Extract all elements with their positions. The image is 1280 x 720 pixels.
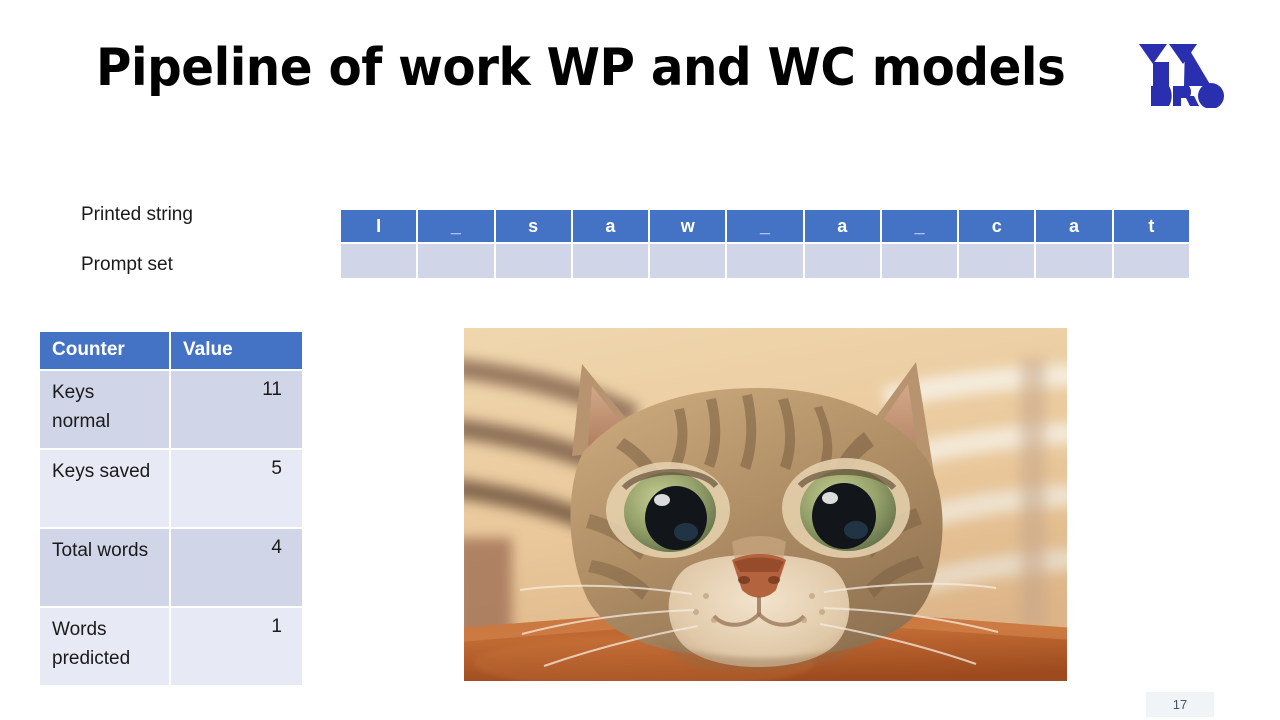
prompt-set-cell-0 [341, 244, 416, 278]
prompt-set-cell-6 [805, 244, 880, 278]
page-title: Pipeline of work WP and WC models [96, 38, 1065, 98]
printed-string-cell-5: _ [727, 210, 802, 242]
printed-string-cell-7: _ [882, 210, 957, 242]
prompt-set-cell-9 [1036, 244, 1111, 278]
value-column-header: Value [171, 332, 302, 369]
printed-string-cell-8: c [959, 210, 1034, 242]
table-row: Words predicted1 [40, 608, 302, 685]
counter-name-cell: Total words [40, 529, 169, 606]
cat-photo [464, 328, 1067, 681]
printed-string-cell-0: I [341, 210, 416, 242]
counter-name-cell: Words predicted [40, 608, 169, 685]
counter-value-cell: 1 [171, 608, 302, 685]
table-row: Keys saved5 [40, 450, 302, 527]
printed-string-row: I_saw_a_cat [341, 210, 1189, 242]
printed-string-cell-3: a [573, 210, 648, 242]
prompt-set-label: Prompt set [81, 254, 173, 276]
printed-string-label: Printed string [81, 204, 193, 226]
yadro-logo [1137, 42, 1231, 108]
counter-table-body: Keys normal11Keys saved5Total words4Word… [40, 371, 302, 685]
prompt-set-cell-7 [882, 244, 957, 278]
prompt-set-cell-1 [418, 244, 493, 278]
table-row: Total words4 [40, 529, 302, 606]
printed-string-cell-1: _ [418, 210, 493, 242]
printed-string-cell-6: a [805, 210, 880, 242]
page-number: 17 [1146, 692, 1214, 717]
prompt-set-cell-10 [1114, 244, 1189, 278]
printed-string-cell-2: s [496, 210, 571, 242]
prompt-set-row [341, 244, 1189, 278]
printed-string-table: I_saw_a_cat [339, 208, 1191, 280]
prompt-set-cell-3 [573, 244, 648, 278]
counter-value-cell: 11 [171, 371, 302, 448]
counter-column-header: Counter [40, 332, 169, 369]
printed-string-cell-10: t [1114, 210, 1189, 242]
counter-value-cell: 5 [171, 450, 302, 527]
printed-string-cell-9: a [1036, 210, 1111, 242]
prompt-set-cell-5 [727, 244, 802, 278]
counter-table: Counter Value Keys normal11Keys saved5To… [38, 330, 304, 687]
counter-name-cell: Keys saved [40, 450, 169, 527]
prompt-set-cell-8 [959, 244, 1034, 278]
cat-photo-image [464, 328, 1067, 681]
counter-value-cell: 4 [171, 529, 302, 606]
yadro-logo-icon [1137, 42, 1231, 108]
counter-name-cell: Keys normal [40, 371, 169, 448]
prompt-set-cell-4 [650, 244, 725, 278]
prompt-set-cell-2 [496, 244, 571, 278]
printed-string-cell-4: w [650, 210, 725, 242]
counter-table-header-row: Counter Value [40, 332, 302, 369]
table-row: Keys normal11 [40, 371, 302, 448]
